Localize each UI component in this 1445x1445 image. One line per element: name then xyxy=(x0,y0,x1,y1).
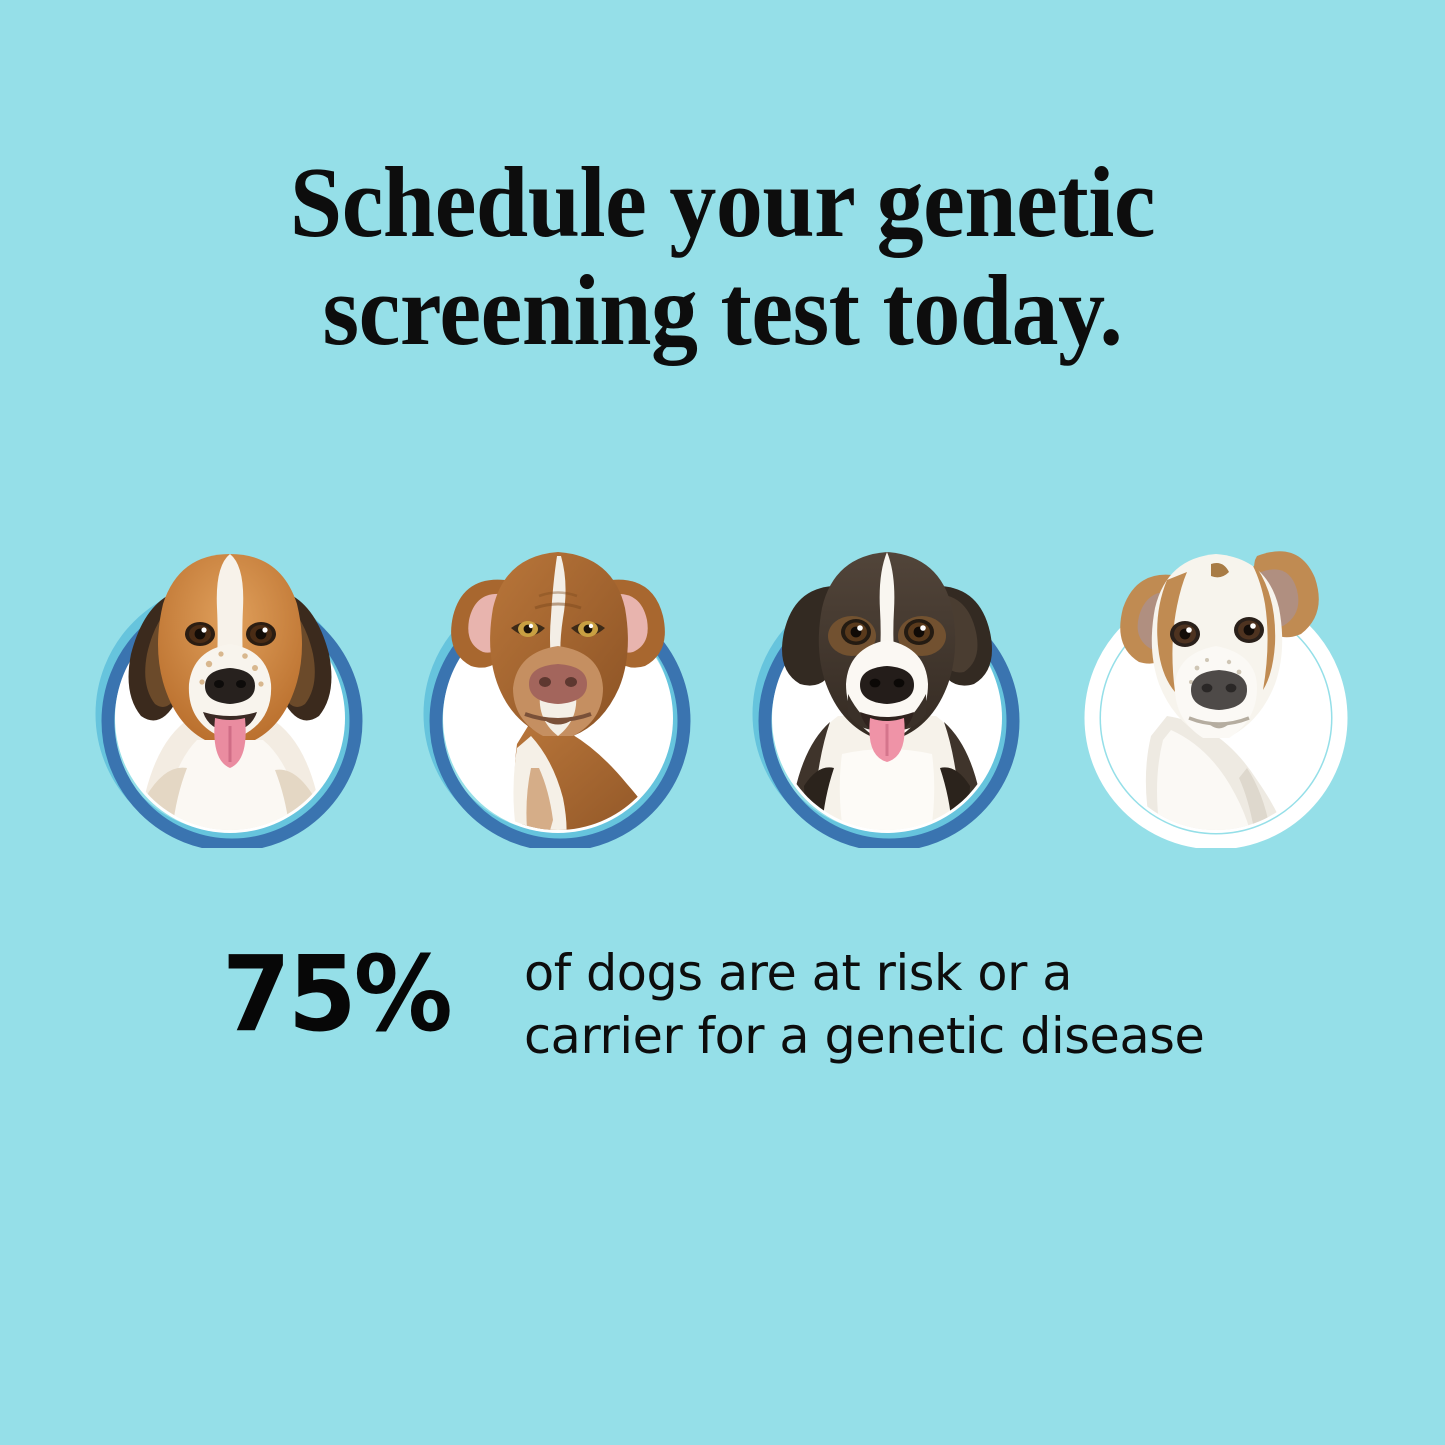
dog-portrait-row xyxy=(0,468,1445,848)
dog-portrait-4-illustration xyxy=(1071,468,1361,848)
dog-badge-1 xyxy=(85,468,375,848)
stat-block: 75% of dogs are at risk or a carrier for… xyxy=(0,932,1445,1072)
stat-inner: 75% of dogs are at risk or a carrier for… xyxy=(222,932,1215,1068)
stat-percentage: 75% xyxy=(222,936,450,1052)
dog-badge-2 xyxy=(413,468,703,848)
stat-description-line-2: carrier for a genetic disease xyxy=(524,1005,1204,1068)
stat-description-line-1: of dogs are at risk or a xyxy=(524,942,1204,1005)
stat-description: of dogs are at risk or a carrier for a g… xyxy=(524,932,1204,1068)
dog-portrait-3-illustration xyxy=(742,468,1032,848)
dog-portrait-2-illustration xyxy=(413,468,703,848)
dog-portrait-1-illustration xyxy=(85,468,375,848)
page-title: Schedule your genetic screening test tod… xyxy=(51,148,1395,364)
headline-line-1: Schedule your genetic xyxy=(51,148,1395,256)
poster-canvas: Schedule your genetic screening test tod… xyxy=(0,0,1445,1445)
dog-badge-3 xyxy=(742,468,1032,848)
headline-line-2: screening test today. xyxy=(51,256,1395,364)
dog-badge-4 xyxy=(1071,468,1361,848)
